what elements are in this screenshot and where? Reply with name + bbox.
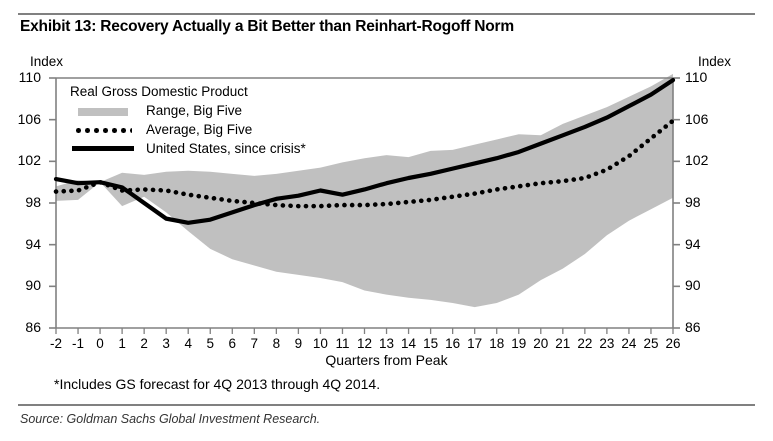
y-tick-label: 98 [7,194,41,210]
chart-canvas [0,0,773,441]
legend-label: Average, Big Five [146,122,252,137]
chart-footnote: *Includes GS forecast for 4Q 2013 throug… [54,376,380,392]
y-tick-label: 86 [685,319,719,335]
legend-item-average: Average, Big Five [66,120,306,139]
chart-legend: Real Gross Domestic Product Range, Big F… [66,84,306,158]
y-tick-label: 110 [685,69,719,85]
y-tick-label: 106 [685,111,719,127]
dotted-line-icon [66,123,140,137]
range-swatch-icon [66,104,140,118]
y-tick-label: 106 [7,111,41,127]
legend-label: United States, since crisis* [146,141,306,156]
x-axis-title: Quarters from Peak [0,352,773,368]
y-tick-label: 102 [7,152,41,168]
y-tick-label: 94 [7,236,41,252]
solid-line-icon [66,142,140,156]
source-note: Source: Goldman Sachs Global Investment … [20,412,320,426]
legend-label: Range, Big Five [146,103,242,118]
legend-item-us: United States, since crisis* [66,139,306,158]
y-tick-label: 94 [685,236,719,252]
y-tick-label: 90 [685,277,719,293]
y-tick-label: 86 [7,319,41,335]
y-tick-label: 98 [685,194,719,210]
bottom-divider [18,404,755,406]
x-tick-label: 26 [660,336,686,351]
exhibit-chart: Exhibit 13: Recovery Actually a Bit Bett… [0,0,773,441]
legend-title: Real Gross Domestic Product [70,84,306,99]
y-tick-label: 110 [7,69,41,85]
y-tick-label: 102 [685,152,719,168]
y-tick-label: 90 [7,277,41,293]
legend-item-range: Range, Big Five [66,101,306,120]
